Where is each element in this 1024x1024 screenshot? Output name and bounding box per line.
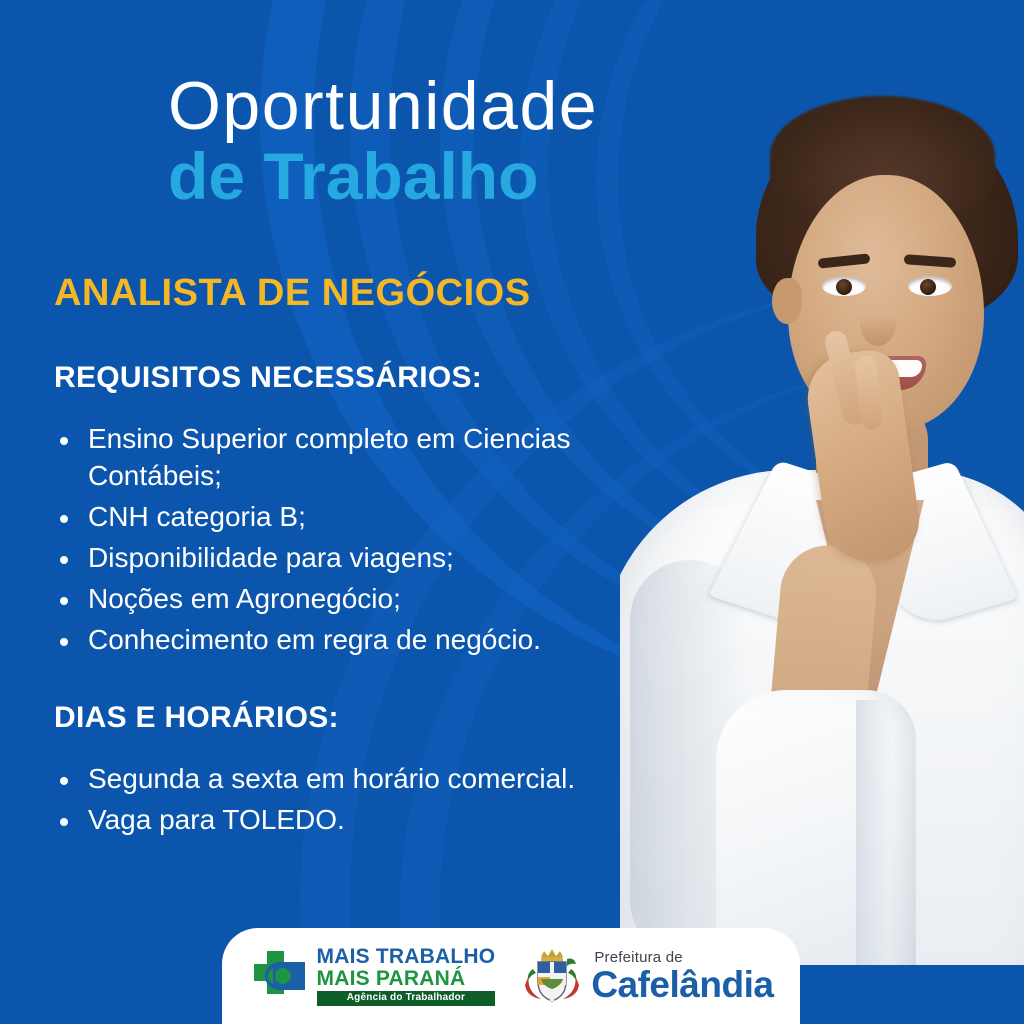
poster-headline: Oportunidade de Trabalho bbox=[168, 72, 598, 214]
logo-mais-trabalho-mais-parana: MAIS TRABALHO MAIS PARANÁ Agência do Tra… bbox=[249, 946, 496, 1006]
iris-right bbox=[920, 279, 936, 295]
mais-trabalho-wordmark: MAIS TRABALHO MAIS PARANÁ Agência do Tra… bbox=[317, 946, 496, 1006]
mais-trabalho-tagline: Agência do Trabalhador bbox=[317, 991, 496, 1006]
footer-logo-bar: MAIS TRABALHO MAIS PARANÁ Agência do Tra… bbox=[222, 928, 800, 1024]
list-item: CNH categoria B; bbox=[54, 499, 674, 536]
headline-line-2: de Trabalho bbox=[168, 140, 598, 214]
requirements-heading: REQUISITOS NECESSÁRIOS: bbox=[54, 361, 674, 395]
list-item: Segunda a sexta em horário comercial. bbox=[54, 761, 674, 798]
photo-woman-white-shirt bbox=[620, 0, 1024, 965]
cross-puzzle-icon bbox=[249, 948, 311, 1004]
list-item: Vaga para TOLEDO. bbox=[54, 802, 674, 839]
headline-line-1: Oportunidade bbox=[168, 72, 598, 140]
logo-prefeitura-cafelandia: Prefeitura de Cafelândia bbox=[521, 945, 773, 1007]
prefeitura-label: Prefeitura de bbox=[594, 950, 773, 965]
list-item: Conhecimento em regra de negócio. bbox=[54, 622, 674, 659]
list-item: Noções em Agronegócio; bbox=[54, 581, 674, 618]
list-item: Disponibilidade para viagens; bbox=[54, 540, 674, 577]
ear bbox=[772, 278, 802, 324]
coat-of-arms-icon bbox=[521, 945, 583, 1007]
nose bbox=[860, 300, 896, 346]
schedule-list: Segunda a sexta em horário comercial. Va… bbox=[54, 761, 674, 839]
cafelandia-label: Cafelândia bbox=[591, 966, 773, 1003]
mais-trabalho-line-2: MAIS PARANÁ bbox=[317, 968, 496, 989]
job-opportunity-poster: Oportunidade de Trabalho ANALISTA DE NEG… bbox=[0, 0, 1024, 1024]
cafelandia-wordmark: Prefeitura de Cafelândia bbox=[591, 950, 773, 1003]
job-title: ANALISTA DE NEGÓCIOS bbox=[54, 272, 674, 315]
shirt-placket bbox=[856, 700, 890, 965]
poster-content: ANALISTA DE NEGÓCIOS REQUISITOS NECESSÁR… bbox=[54, 272, 674, 881]
requirements-list: Ensino Superior completo em Ciencias Con… bbox=[54, 421, 674, 659]
iris-left bbox=[836, 279, 852, 295]
schedule-heading: DIAS E HORÁRIOS: bbox=[54, 701, 674, 735]
mais-trabalho-line-1: MAIS TRABALHO bbox=[317, 946, 496, 967]
list-item: Ensino Superior completo em Ciencias Con… bbox=[54, 421, 674, 495]
